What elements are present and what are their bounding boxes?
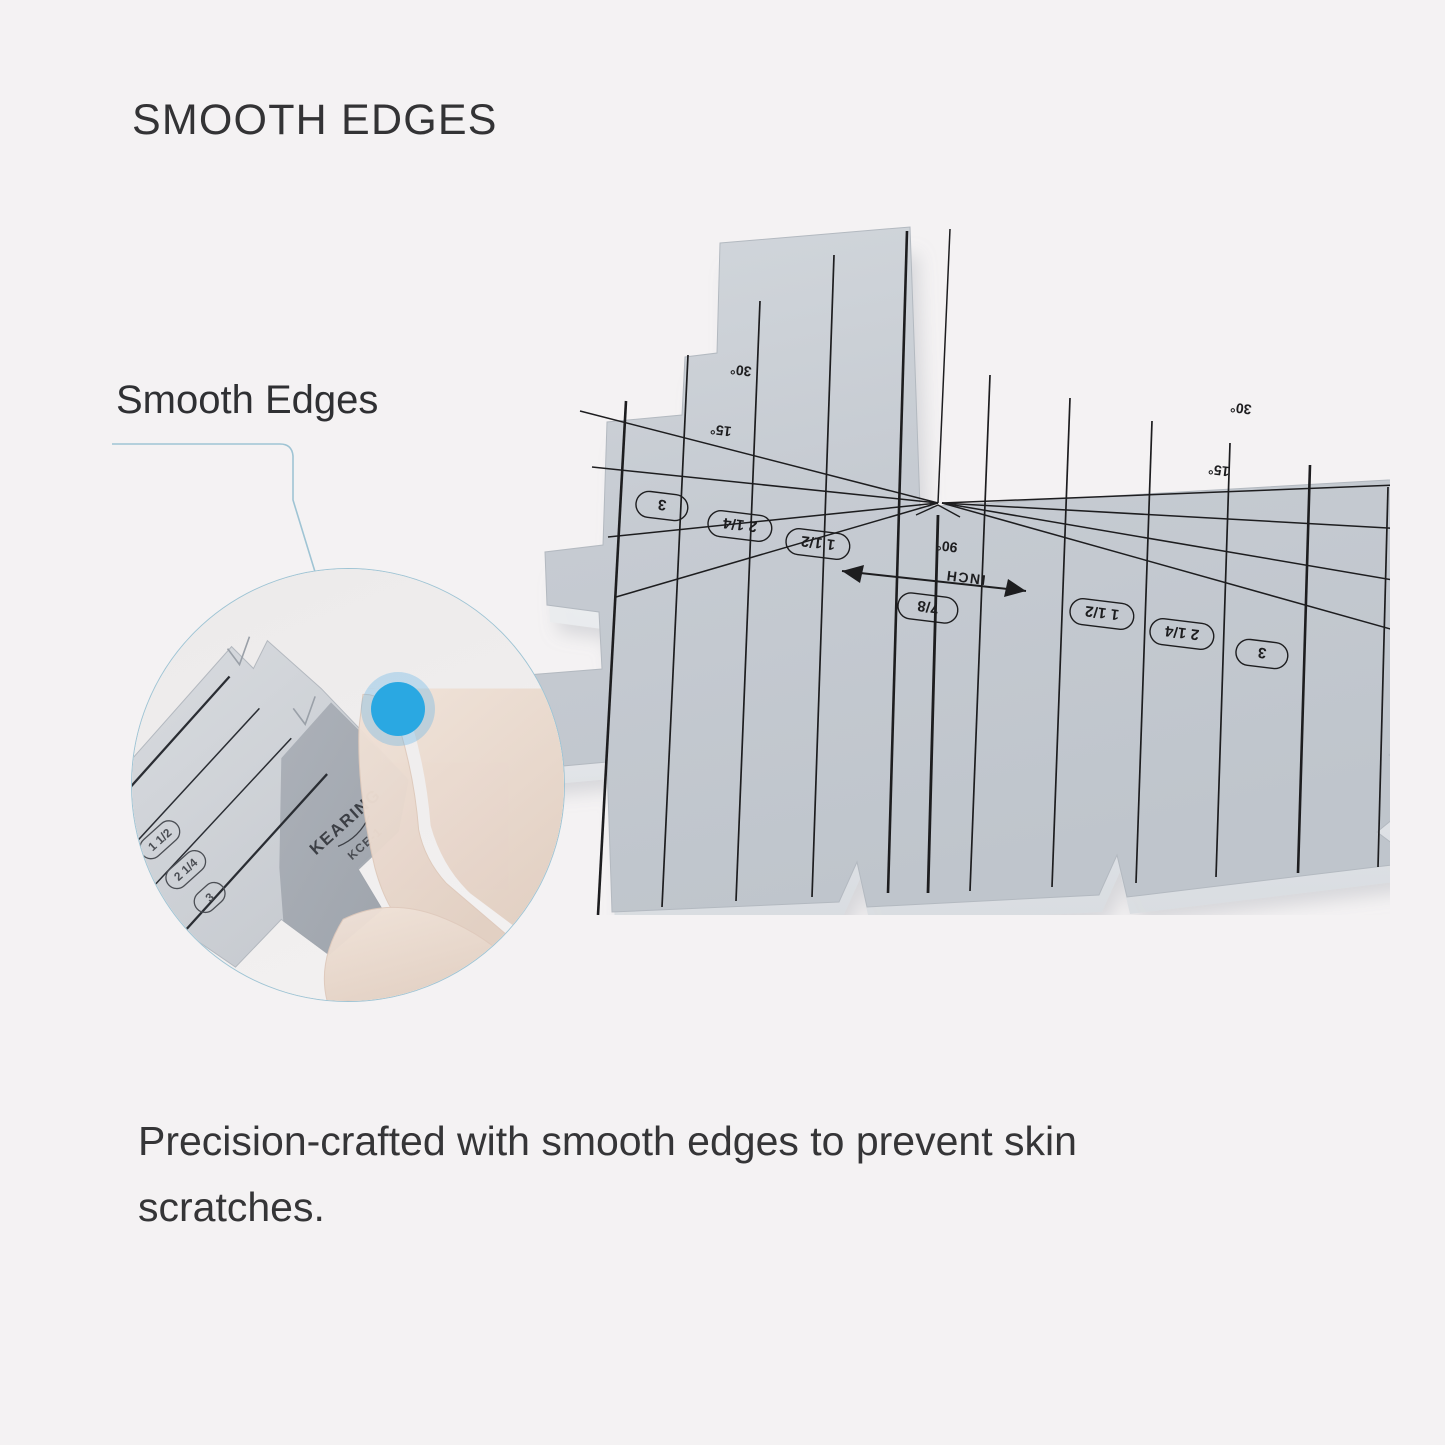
- magnified-detail-illustration: 1 1/2 2 1/4 3 KEARING KCE-1: [132, 569, 564, 1001]
- angle-label-right-15: 15°: [1207, 461, 1230, 479]
- angle-label-left-30: 30°: [729, 361, 752, 379]
- product-image: 30° 15° 30° 15° 90° 3 2 1/: [430, 215, 1390, 915]
- infographic-page: SMOOTH EDGES: [0, 0, 1445, 1445]
- caption-text: Precision-crafted with smooth edges to p…: [138, 1108, 1228, 1241]
- product-ruler-illustration: 30° 15° 30° 15° 90° 3 2 1/: [430, 215, 1390, 915]
- page-title: SMOOTH EDGES: [132, 96, 498, 145]
- angle-label-right-30: 30°: [1229, 399, 1252, 417]
- svg-text:7/8: 7/8: [916, 597, 939, 616]
- angle-label-left-15: 15°: [709, 421, 732, 439]
- callout-label: Smooth Edges: [116, 378, 378, 423]
- apex-angle-label: 90°: [935, 537, 958, 555]
- ruler-body: [487, 227, 1390, 912]
- magnifier-inset: 1 1/2 2 1/4 3 KEARING KCE-1: [131, 568, 565, 1002]
